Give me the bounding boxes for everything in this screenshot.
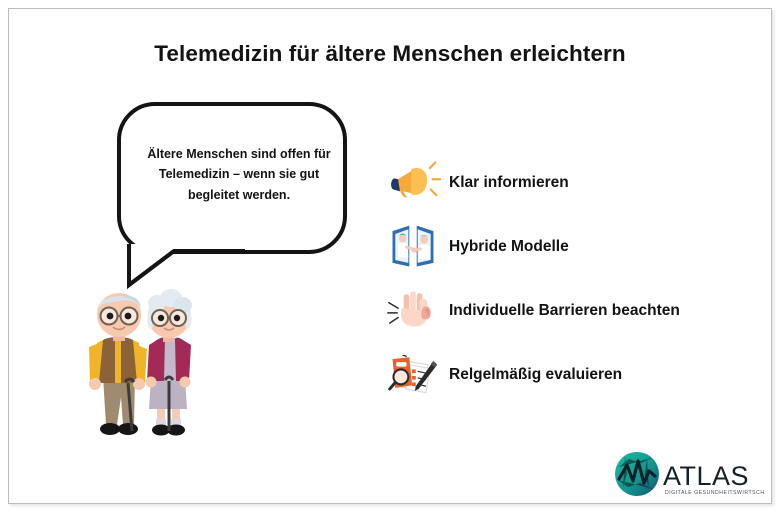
- key-points-list: Klar informieren: [383, 151, 733, 407]
- speech-bubble-tail-icon: [127, 244, 247, 290]
- list-item-label: Hybride Modelle: [449, 238, 569, 256]
- speech-line-2: Telemedizin – wenn sie gut: [159, 167, 319, 181]
- list-item[interactable]: Individuelle Barrieren beachten: [383, 279, 733, 343]
- elderly-woman: [146, 289, 193, 436]
- telemedicine-screens-icon: [383, 218, 443, 276]
- hand-to-ear-icon: [383, 282, 443, 340]
- speech-line-1: Ältere Menschen sind offen für: [147, 147, 330, 161]
- slide-canvas: Telemedizin für ältere Menschen erleicht…: [8, 8, 772, 504]
- logo-tagline: DIGITALE GESUNDHEITSWIRTSCHAFT: [665, 490, 765, 496]
- speech-bubble-text: Ältere Menschen sind offen für Telemediz…: [141, 144, 337, 205]
- list-item-label: Individuelle Barrieren beachten: [449, 302, 680, 320]
- clipboard-magnifier-icon: [383, 346, 443, 404]
- logo-wordmark: ATLAS: [663, 461, 749, 491]
- list-item[interactable]: Hybride Modelle: [383, 215, 733, 279]
- list-item-label: Klar informieren: [449, 174, 569, 192]
- list-item[interactable]: Relgelmäßig evaluieren: [383, 343, 733, 407]
- elderly-couple-illustration: [65, 285, 217, 443]
- page-title: Telemedizin für ältere Menschen erleicht…: [9, 41, 771, 67]
- list-item[interactable]: Klar informieren: [383, 151, 733, 215]
- atlas-logo: ATLAS DIGITALE GESUNDHEITSWIRTSCHAFT: [613, 449, 765, 501]
- speech-bubble: Ältere Menschen sind offen für Telemediz…: [117, 102, 347, 254]
- elderly-man: [89, 293, 147, 435]
- megaphone-icon: [383, 154, 443, 212]
- list-item-label: Relgelmäßig evaluieren: [449, 366, 622, 384]
- speech-line-3: begleitet werden.: [188, 188, 290, 202]
- quote-bubble-group: Ältere Menschen sind offen für Telemediz…: [109, 94, 359, 294]
